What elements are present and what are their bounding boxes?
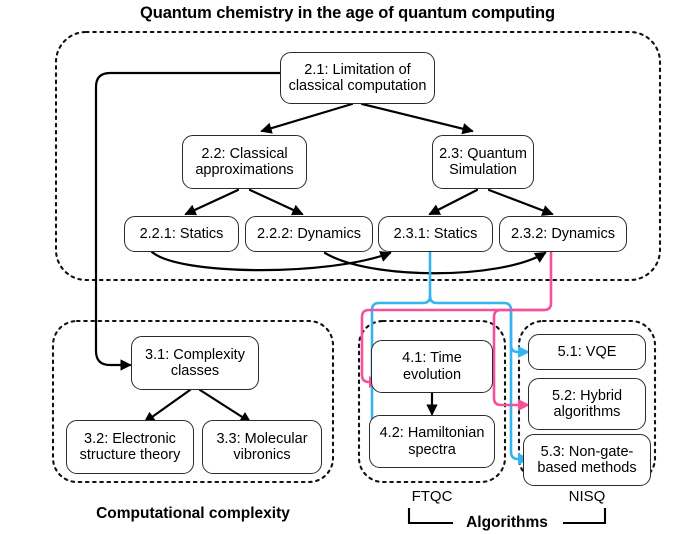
node-3-1[interactable]: 3.1: Complexity classes — [131, 336, 259, 390]
caption-computational-complexity: Computational complexity — [53, 505, 333, 523]
edge-n222-n232 — [325, 253, 545, 273]
edge-n21-n23 — [362, 104, 472, 131]
edge-n23-n232 — [489, 190, 552, 214]
node-2-2-2[interactable]: 2.2.2: Dynamics — [245, 216, 373, 252]
node-5-1[interactable]: 5.1: VQE — [528, 334, 646, 370]
diagram-canvas: Quantum chemistry in the age of quantum … — [0, 0, 695, 534]
node-2-2[interactable]: 2.2: Classical approximations — [182, 135, 307, 189]
node-3-3[interactable]: 3.3: Molecular vibronics — [202, 420, 322, 474]
label-ftqc: FTQC — [372, 488, 492, 505]
node-5-3[interactable]: 5.3: Non-gate-based methods — [523, 434, 651, 486]
node-2-1[interactable]: 2.1: Limitation of classical computation — [280, 52, 435, 104]
edge-n31-n32 — [145, 390, 190, 422]
edge-n23-n231 — [430, 190, 477, 214]
edge-n21-n22 — [262, 104, 352, 131]
node-5-2[interactable]: 5.2: Hybrid algorithms — [528, 378, 646, 430]
node-4-1[interactable]: 4.1: Time evolution — [371, 340, 493, 393]
label-nisq: NISQ — [527, 488, 647, 505]
page-title: Quantum chemistry in the age of quantum … — [0, 4, 695, 23]
node-4-2[interactable]: 4.2: Hamiltonian spectra — [369, 415, 495, 468]
node-2-3-2[interactable]: 2.3.2: Dynamics — [499, 216, 627, 252]
edge-n31-n33 — [200, 390, 250, 422]
node-3-2[interactable]: 3.2: Electronic structure theory — [66, 420, 194, 474]
node-2-3[interactable]: 2.3: Quantum Simulation — [432, 135, 534, 189]
edge-n22-n222 — [250, 190, 302, 214]
edge-n221-n231 — [152, 252, 390, 270]
node-2-2-1[interactable]: 2.2.1: Statics — [124, 216, 239, 252]
caption-algorithms: Algorithms — [447, 514, 567, 532]
edge-n22-n221 — [186, 190, 238, 214]
node-2-3-1[interactable]: 2.3.1: Statics — [378, 216, 493, 252]
